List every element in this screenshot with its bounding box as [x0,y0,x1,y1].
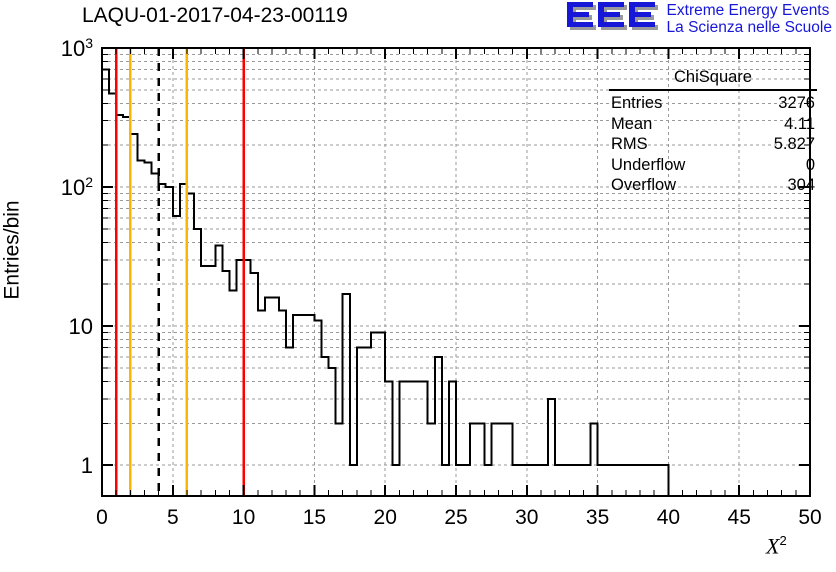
x-tick-label: 45 [728,506,751,529]
x-tick-label: 30 [515,506,538,529]
stats-rows: Entries3276Mean4.11RMS5.827Underflow0Ove… [609,93,817,196]
stats-box: ChiSquare Entries3276Mean4.11RMS5.827Und… [609,68,817,196]
stats-row-value: 304 [787,175,815,196]
marker-lines [116,48,243,496]
stats-divider [609,89,817,91]
x-tick-label: 10 [232,506,255,529]
y-tick-label: 10 [69,314,93,339]
x-tick-label: 15 [303,506,326,529]
stats-row-key: RMS [611,134,648,155]
x-tick-label: 25 [444,506,467,529]
stats-row: Overflow304 [609,175,817,196]
stats-row-key: Entries [611,93,662,114]
stats-row-value: 0 [806,155,815,176]
stats-row-value: 5.827 [774,134,815,155]
stats-row-key: Mean [611,114,652,135]
stats-row: RMS5.827 [609,134,817,155]
y-tick-label: 103 [61,35,93,61]
x-tick-label: 0 [96,506,108,529]
plot-canvas: LAQU-01-2017-04-23-00119 [0,0,836,572]
stats-row: Underflow0 [609,155,817,176]
y-tick-label: 102 [61,174,93,200]
stats-row: Entries3276 [609,93,817,114]
x-tick-label: 35 [586,506,609,529]
stats-title: ChiSquare [609,68,817,89]
stats-row-value: 4.11 [784,114,815,135]
x-tick-label: 50 [798,506,821,529]
stats-row-value: 3276 [778,93,815,114]
x-tick-label: 40 [657,506,680,529]
x-tick-label: 5 [167,506,179,529]
y-tick-label: 1 [81,453,93,478]
stats-row-key: Overflow [611,175,676,196]
stats-row: Mean4.11 [609,114,817,135]
x-tick-label: 20 [374,506,397,529]
stats-row-key: Underflow [611,155,685,176]
